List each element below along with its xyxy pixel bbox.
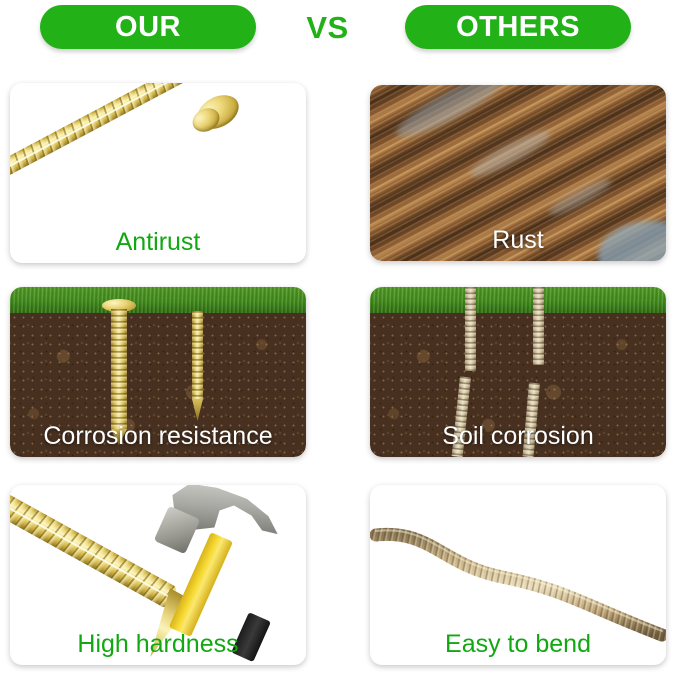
our-pill-badge: OUR: [40, 5, 256, 49]
vs-separator-label: VS: [300, 8, 355, 48]
stake-ribs: [10, 493, 177, 609]
gold-screw-shaft: [192, 311, 203, 399]
our-pill-label: OUR: [115, 11, 181, 44]
comparison-header: OUR VS OTHERS: [0, 0, 679, 60]
grass-layer: [370, 287, 666, 313]
others-pill-label: OTHERS: [456, 11, 580, 44]
grass-blades: [370, 287, 666, 313]
antirust-illustration: [10, 83, 306, 263]
high-hardness-illustration: [10, 485, 306, 665]
soil-corrosion-illustration: [370, 287, 666, 457]
card-easy-to-bend: Easy to bend: [370, 485, 666, 665]
bent-rod-ribs: [376, 534, 662, 635]
grass-blades: [10, 287, 306, 313]
card-antirust: Antirust: [10, 83, 306, 263]
bent-rod-svg: [370, 485, 666, 665]
hammer-grip: [231, 612, 271, 662]
corrosion-resistance-illustration: [10, 287, 306, 457]
card-high-hardness: High hardness: [10, 485, 306, 665]
corroded-rod-upper: [533, 287, 544, 365]
screw-ribs: [192, 311, 203, 399]
rod-ribs: [533, 287, 544, 365]
corroded-rod-upper: [465, 287, 476, 371]
soil-layer: [10, 313, 306, 457]
soil-layer: [370, 313, 666, 457]
easy-to-bend-illustration: [370, 485, 666, 665]
card-corrosion-resistance: Corrosion resistance: [10, 287, 306, 457]
grass-layer: [10, 287, 306, 313]
gold-rebar-shaft: [10, 83, 198, 177]
card-soil-corrosion: Soil corrosion: [370, 287, 666, 457]
gold-stake-shaft: [10, 493, 177, 609]
rust-photo: [370, 85, 666, 261]
rebar-ribs: [10, 83, 198, 177]
soil-speckle-texture: [370, 313, 666, 457]
screw-ribs: [111, 309, 127, 429]
rod-ribs: [465, 287, 476, 371]
card-rust: Rust: [370, 85, 666, 261]
gold-screw-shaft: [111, 309, 127, 429]
others-pill-badge: OTHERS: [405, 5, 631, 49]
bent-rebar-rod: [370, 485, 666, 665]
soil-speckle-texture: [10, 313, 306, 457]
